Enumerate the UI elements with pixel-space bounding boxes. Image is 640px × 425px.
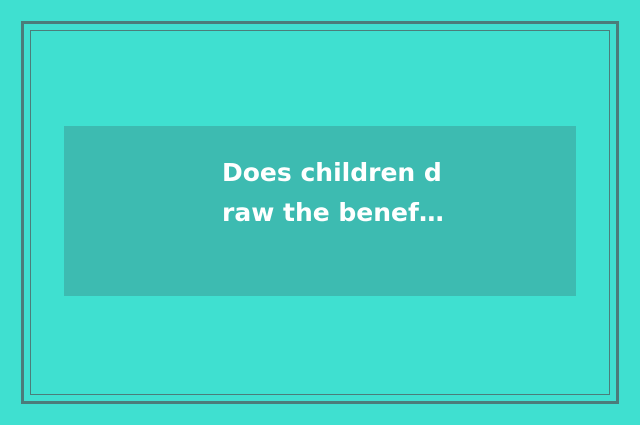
screenshot-stage: Does children d raw the benef… <box>0 0 640 425</box>
title-line-2: raw the benef… <box>222 193 418 233</box>
content-panel: Does children d raw the benef… <box>64 126 576 296</box>
title-line-1: Does children d <box>222 153 418 193</box>
title-block: Does children d raw the benef… <box>222 153 418 233</box>
